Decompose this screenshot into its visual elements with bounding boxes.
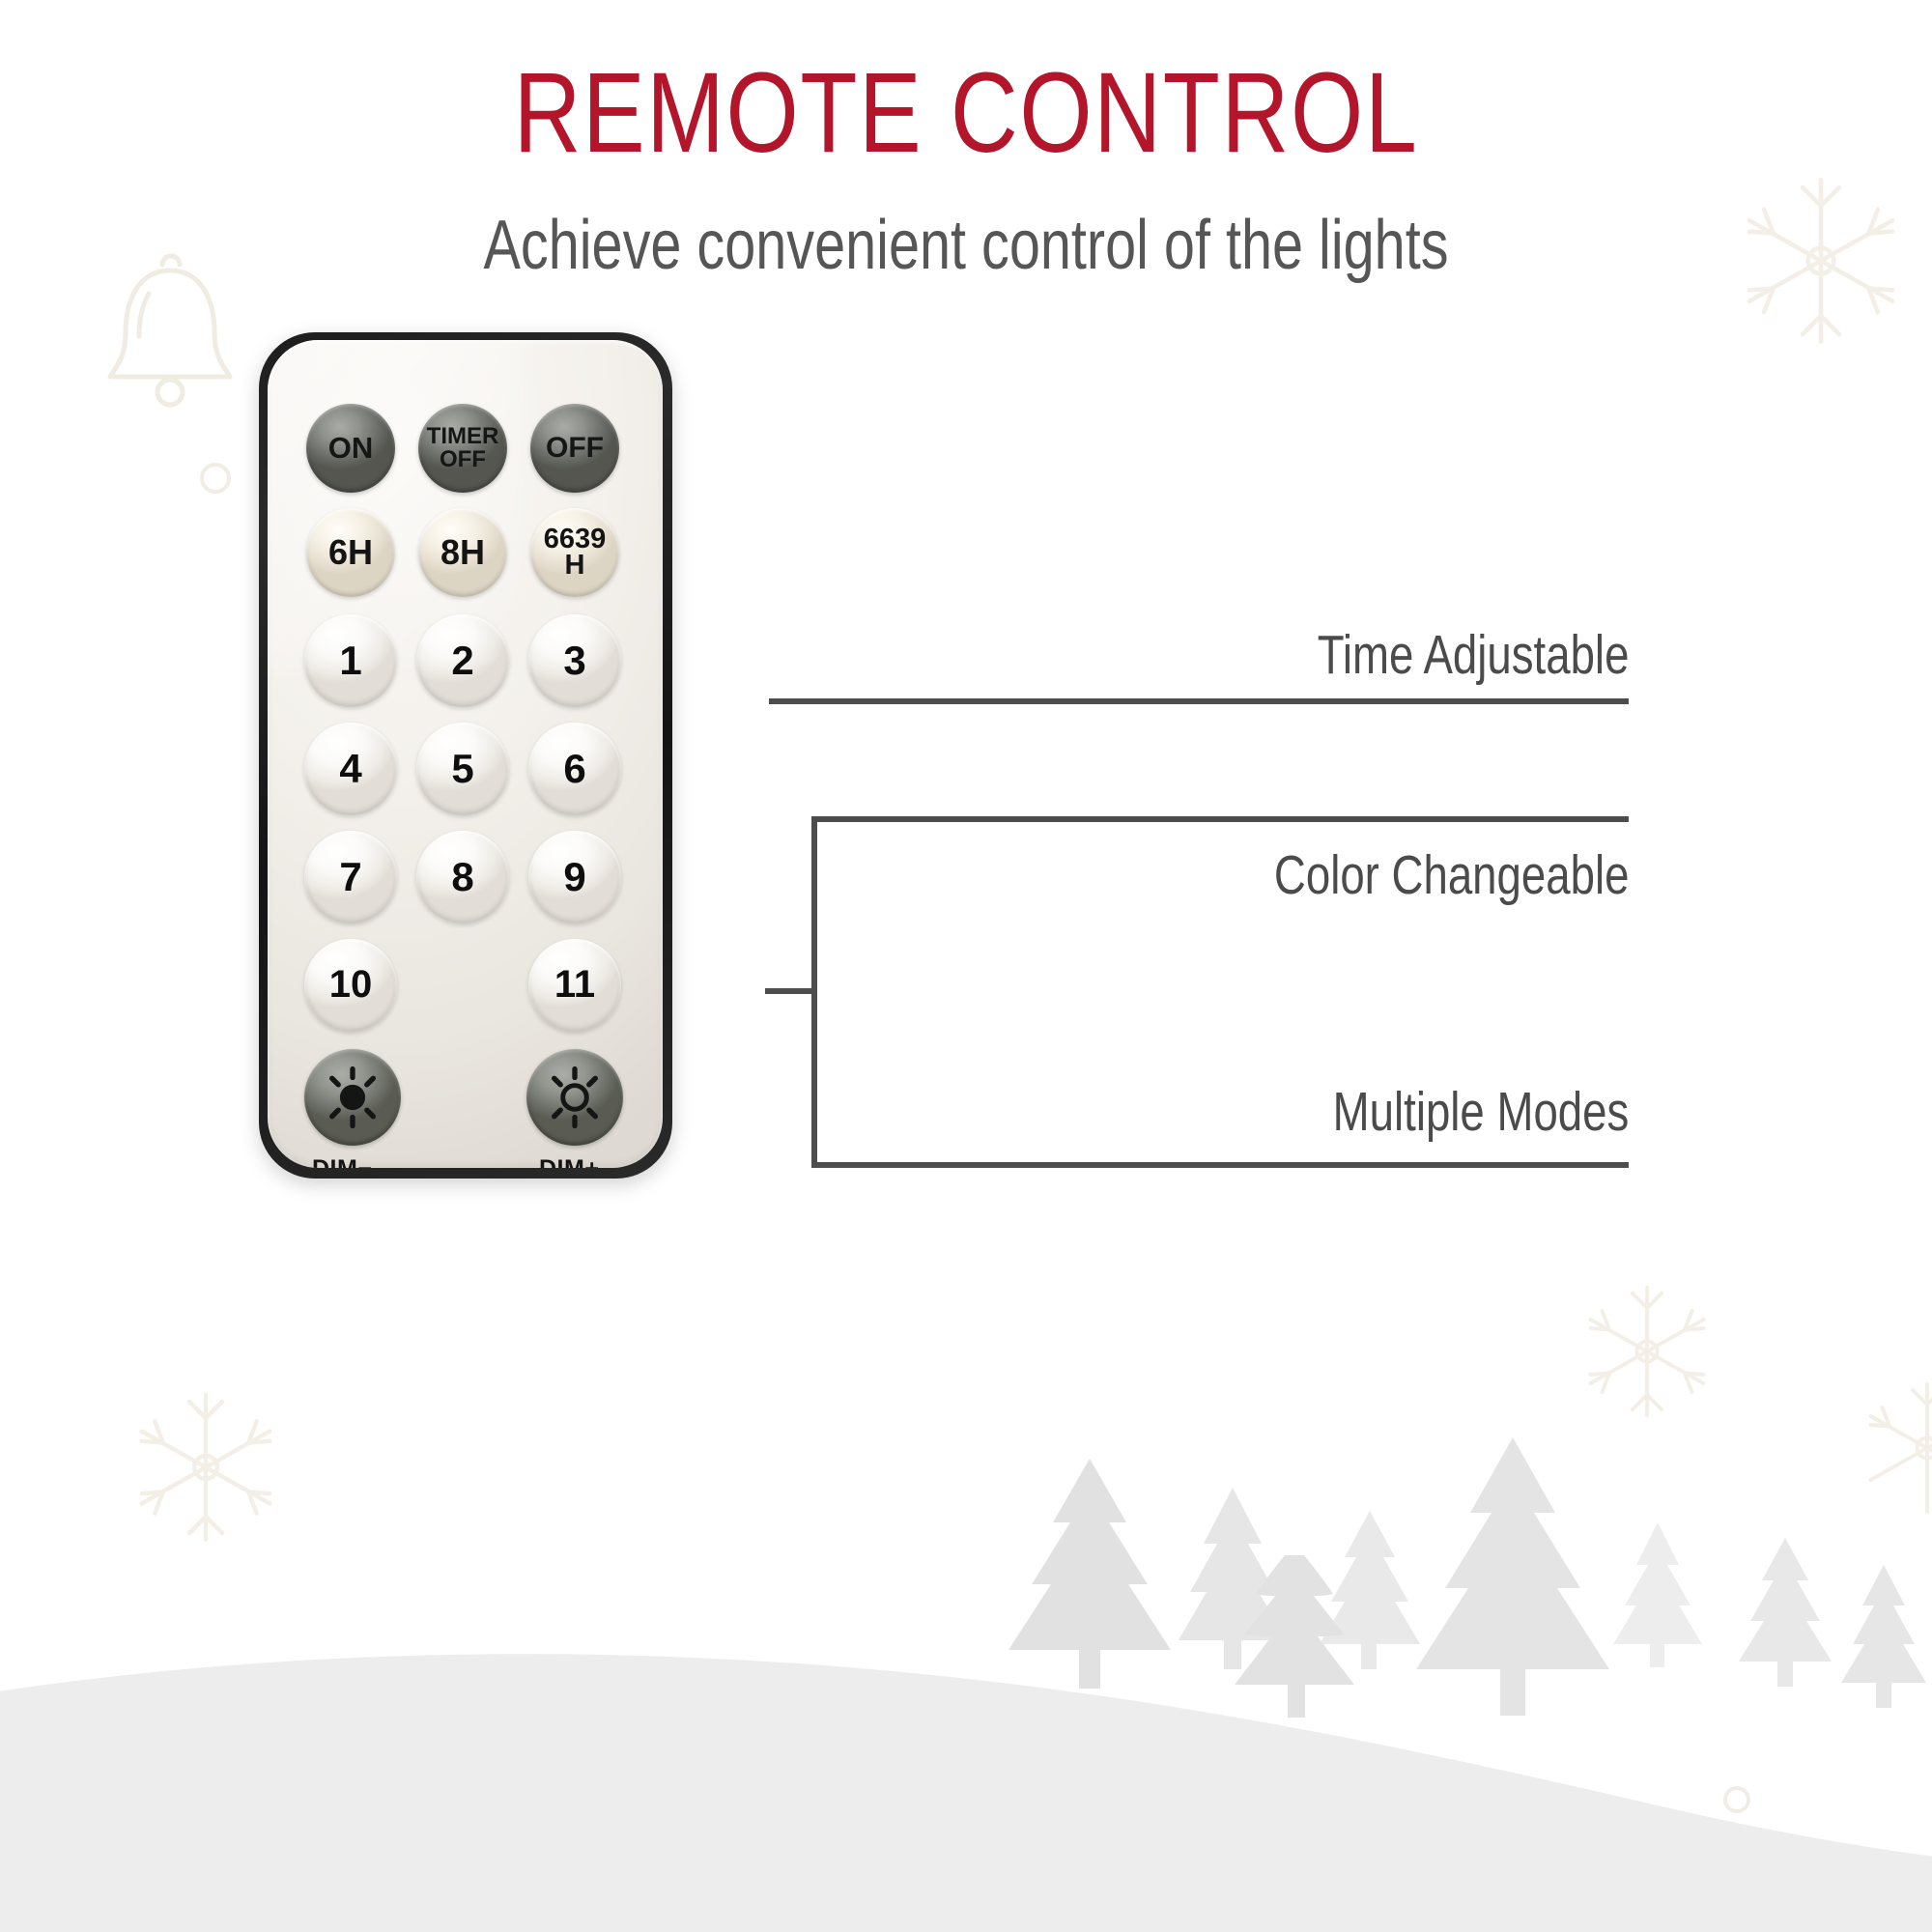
- header: REMOTE CONTROL Achieve convenient contro…: [0, 0, 1932, 280]
- page-title: REMOTE CONTROL: [174, 56, 1758, 170]
- on-button-label: ON: [328, 434, 374, 463]
- number-button-2-label: 2: [451, 640, 473, 680]
- callout-label-color-changeable: Color Changeable: [1273, 843, 1629, 907]
- timer-8h-label: 8H: [440, 535, 485, 569]
- timer-6639h-label-line2: H: [544, 553, 607, 579]
- sun-outline-icon: [535, 1058, 614, 1137]
- small-circle-decor: [199, 462, 232, 495]
- number-button-1-label: 1: [339, 640, 361, 680]
- number-button-11-label: 11: [554, 966, 595, 1004]
- number-button-9[interactable]: 9: [528, 831, 621, 923]
- callout-leader-color-changeable: [765, 988, 817, 994]
- number-button-8[interactable]: 8: [416, 831, 509, 923]
- number-button-3[interactable]: 3: [528, 614, 621, 707]
- number-button-7[interactable]: 7: [304, 831, 397, 923]
- number-button-6[interactable]: 6: [528, 723, 621, 815]
- number-button-8-label: 8: [451, 857, 473, 896]
- number-button-1[interactable]: 1: [304, 614, 397, 707]
- number-button-10[interactable]: 10: [304, 939, 397, 1032]
- number-button-5[interactable]: 5: [416, 723, 509, 815]
- timer-6h-button[interactable]: 6H: [306, 508, 395, 597]
- remote-faceplate: ON TIMER OFF OFF 6H 8H: [268, 340, 663, 1168]
- off-button[interactable]: OFF: [530, 404, 619, 493]
- number-button-9-label: 9: [563, 857, 585, 896]
- callout-label-time-adjustable: Time Adjustable: [1317, 623, 1629, 687]
- off-button-label: OFF: [546, 434, 604, 462]
- small-circle-decor: [1722, 1785, 1751, 1814]
- timer-6639h-label-line1: 6639: [544, 526, 607, 553]
- dim-plus-button[interactable]: [526, 1049, 623, 1146]
- number-button-4-label: 4: [339, 749, 361, 788]
- number-button-6-label: 6: [563, 749, 585, 788]
- timer-6639h-button[interactable]: 6639 H: [530, 508, 619, 597]
- button-pad: ON TIMER OFF OFF 6H 8H: [268, 340, 663, 1168]
- callout-line-time-adjustable: [769, 698, 1629, 704]
- timer-off-button-label-line1: TIMER: [427, 425, 499, 448]
- dim-plus-label: DIM+: [539, 1155, 599, 1168]
- snow-hill: [0, 1517, 1932, 1932]
- timer-off-button-label-line2: OFF: [427, 448, 499, 471]
- on-button[interactable]: ON: [306, 404, 395, 493]
- snowflake-icon: [124, 1381, 288, 1553]
- snowflake-icon: [1575, 1275, 1719, 1428]
- timer-8h-button[interactable]: 8H: [418, 508, 507, 597]
- remote-control-device: ON TIMER OFF OFF 6H 8H: [259, 332, 672, 1179]
- infographic-canvas: REMOTE CONTROL Achieve convenient contro…: [0, 0, 1932, 1932]
- snowflake-icon: [1855, 1372, 1932, 1524]
- callout-line-color-changeable: [811, 816, 1629, 822]
- timer-off-button[interactable]: TIMER OFF: [418, 404, 507, 493]
- number-button-2[interactable]: 2: [416, 614, 509, 707]
- dim-minus-label: DIM−: [312, 1155, 372, 1168]
- number-button-11[interactable]: 11: [528, 939, 621, 1032]
- number-button-4[interactable]: 4: [304, 723, 397, 815]
- dim-minus-button[interactable]: [304, 1049, 401, 1146]
- pine-tree-silhouettes: [985, 1430, 1932, 1874]
- callout-line-multiple-modes: [811, 1162, 1629, 1168]
- sun-filled-icon: [313, 1058, 392, 1137]
- number-button-3-label: 3: [563, 640, 585, 680]
- number-button-10-label: 10: [329, 966, 373, 1004]
- number-button-7-label: 7: [339, 857, 361, 896]
- number-button-5-label: 5: [451, 749, 473, 788]
- page-subtitle: Achieve convenient control of the lights: [193, 211, 1739, 280]
- callout-leader-time-adjustable: [769, 698, 862, 704]
- timer-6h-label: 6H: [328, 535, 373, 569]
- callout-label-multiple-modes: Multiple Modes: [1332, 1080, 1629, 1144]
